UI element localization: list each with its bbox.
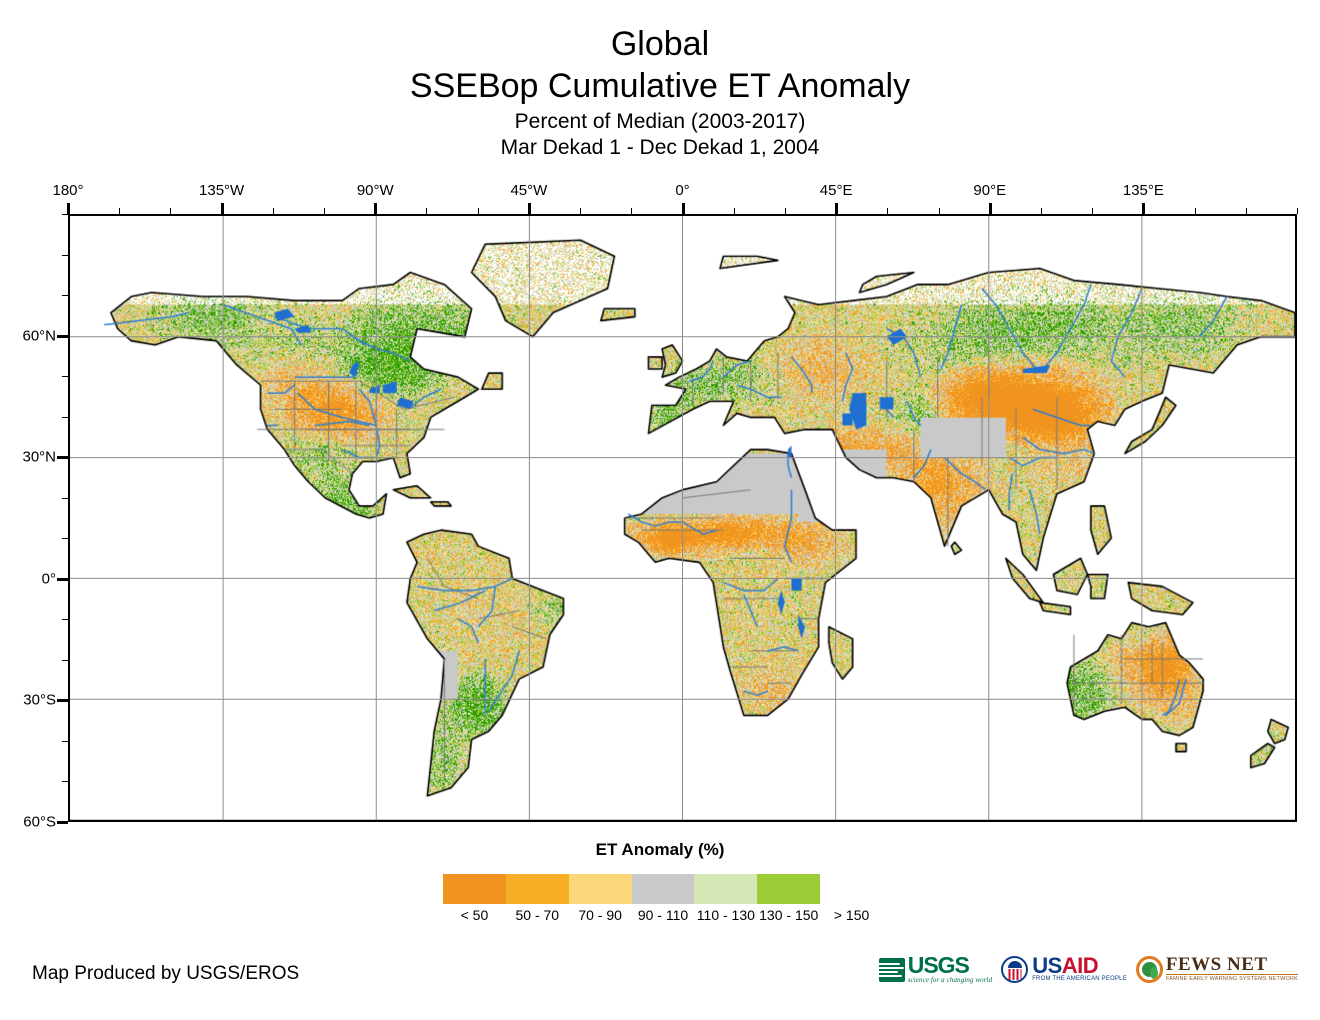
- usgs-logo[interactable]: USGS science for a changing world: [879, 955, 992, 984]
- legend-label-0: < 50: [443, 907, 506, 923]
- lat-tick-minor: [62, 417, 68, 418]
- lon-label-1: 135°W: [199, 182, 244, 199]
- lon-tick-minor: [478, 208, 479, 214]
- lat-label-0: 60°N: [0, 327, 56, 344]
- lon-tick-minor: [273, 208, 274, 214]
- page-title-line-1: Global: [0, 24, 1320, 64]
- lon-tick-major: [682, 203, 685, 214]
- lon-label-3: 45°W: [510, 182, 547, 199]
- lon-tick-minor: [939, 208, 940, 214]
- lat-tick-minor: [62, 660, 68, 661]
- page-title-line-2: SSEBop Cumulative ET Anomaly: [0, 64, 1320, 108]
- lon-tick-major: [835, 203, 838, 214]
- lon-label-0: 180°: [52, 182, 83, 199]
- title-block: Global SSEBop Cumulative ET Anomaly Perc…: [0, 24, 1320, 161]
- legend-label-6: > 150: [820, 907, 883, 923]
- lon-tick-minor: [170, 208, 171, 214]
- legend-label-1: 50 - 70: [506, 907, 569, 923]
- fews-tagline: FAMINE EARLY WARNING SYSTEMS NETWORK: [1166, 974, 1298, 983]
- lat-tick-minor: [62, 781, 68, 782]
- page-subtitle-line-2: Mar Dekad 1 - Dec Dekad 1, 2004: [0, 135, 1320, 161]
- legend-title: ET Anomaly (%): [0, 840, 1320, 860]
- lon-label-7: 135°E: [1123, 182, 1164, 199]
- lon-tick-minor: [580, 208, 581, 214]
- legend-color-bar: [443, 874, 883, 904]
- lat-tick-minor: [62, 741, 68, 742]
- lat-tick-major: [57, 456, 68, 459]
- lon-tick-minor: [1246, 208, 1247, 214]
- fews-globe-icon: [1136, 956, 1163, 983]
- lon-tick-minor: [734, 208, 735, 214]
- page-subtitle-line-1: Percent of Median (2003-2017): [0, 108, 1320, 135]
- lat-tick-minor: [62, 255, 68, 256]
- lon-tick-minor: [119, 208, 120, 214]
- lon-tick-major: [221, 203, 224, 214]
- lon-tick-minor: [324, 208, 325, 214]
- usaid-wordmark: USAID: [1032, 956, 1127, 976]
- fews-net-logo[interactable]: FEWS NET FAMINE EARLY WARNING SYSTEMS NE…: [1136, 956, 1298, 983]
- lon-label-6: 90°E: [973, 182, 1006, 199]
- map-credit: Map Produced by USGS/EROS: [32, 963, 299, 985]
- legend-swatch-4: [694, 874, 757, 904]
- lat-tick-minor: [62, 498, 68, 499]
- usaid-logo[interactable]: USAID FROM THE AMERICAN PEOPLE: [1001, 956, 1127, 983]
- lon-tick-minor: [785, 208, 786, 214]
- legend-swatch-3: [632, 874, 695, 904]
- lon-tick-minor: [887, 208, 888, 214]
- lon-tick-major: [989, 203, 992, 214]
- lat-label-4: 60°S: [0, 814, 56, 831]
- lat-tick-major: [57, 578, 68, 581]
- legend-label-5: 130 - 150: [757, 907, 820, 923]
- lon-tick-minor: [1092, 208, 1093, 214]
- lon-label-2: 90°W: [357, 182, 394, 199]
- legend-swatch-6: [820, 874, 883, 904]
- fews-wordmark: FEWS NET: [1166, 956, 1298, 974]
- usaid-tagline: FROM THE AMERICAN PEOPLE: [1032, 976, 1127, 983]
- legend-label-2: 70 - 90: [569, 907, 632, 923]
- usaid-word-aid: AID: [1062, 953, 1098, 978]
- map-frame[interactable]: [68, 214, 1297, 822]
- lat-tick-major: [57, 335, 68, 338]
- lon-tick-minor: [631, 208, 632, 214]
- logo-row: USGS science for a changing world USAID …: [879, 955, 1298, 984]
- legend-label-3: 90 - 110: [632, 907, 695, 923]
- lon-tick-major: [67, 203, 70, 214]
- legend-label-4: 110 - 130: [694, 907, 757, 923]
- usgs-tagline: science for a changing world: [908, 976, 992, 984]
- lat-label-2: 0°: [0, 570, 56, 587]
- legend: < 5050 - 7070 - 9090 - 110110 - 130130 -…: [443, 874, 883, 923]
- lon-tick-major: [528, 203, 531, 214]
- usgs-wave-icon: [879, 958, 905, 982]
- lon-tick-major: [374, 203, 377, 214]
- lon-tick-minor: [426, 208, 427, 214]
- legend-swatch-2: [569, 874, 632, 904]
- usgs-wordmark: USGS: [908, 955, 992, 976]
- legend-swatch-5: [757, 874, 820, 904]
- lon-tick-major: [1142, 203, 1145, 214]
- map-raster: [70, 216, 1295, 820]
- lon-tick-minor: [1195, 208, 1196, 214]
- lat-label-1: 30°N: [0, 449, 56, 466]
- lon-label-4: 0°: [675, 182, 689, 199]
- legend-swatch-1: [506, 874, 569, 904]
- usaid-word-us: US: [1032, 953, 1062, 978]
- lon-tick-minor: [1041, 208, 1042, 214]
- usaid-seal-icon: [1001, 956, 1028, 983]
- lat-tick-minor: [62, 376, 68, 377]
- lon-label-5: 45°E: [820, 182, 853, 199]
- legend-labels: < 5050 - 7070 - 9090 - 110110 - 130130 -…: [443, 907, 883, 923]
- lon-tick-minor: [1297, 208, 1298, 214]
- lat-tick-major: [57, 699, 68, 702]
- lat-tick-minor: [62, 295, 68, 296]
- legend-swatch-0: [443, 874, 506, 904]
- lat-label-3: 30°S: [0, 692, 56, 709]
- lat-tick-major: [57, 821, 68, 824]
- lat-tick-minor: [62, 538, 68, 539]
- lat-tick-minor: [62, 214, 68, 215]
- lat-tick-minor: [62, 619, 68, 620]
